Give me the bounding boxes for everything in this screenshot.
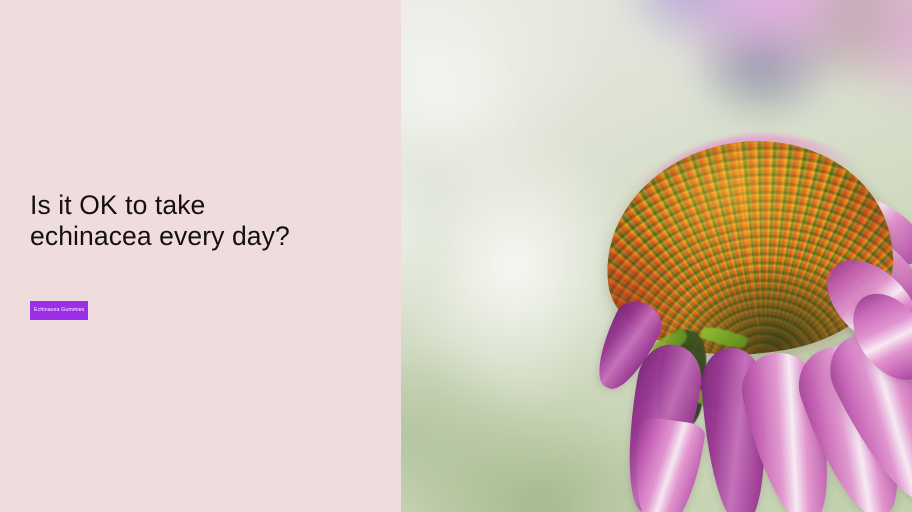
text-panel: Is it OK to take echinacea every day? Ec…: [0, 0, 401, 512]
page-title: Is it OK to take echinacea every day?: [30, 190, 370, 252]
article-hero: Is it OK to take echinacea every day? Ec…: [0, 0, 912, 512]
echinacea-flower-photo: [401, 0, 912, 512]
product-badge-echinacea-gummies[interactable]: Echinacea Gummies: [30, 301, 88, 320]
coneflower: [401, 0, 912, 512]
hero-image-panel: [401, 0, 912, 512]
